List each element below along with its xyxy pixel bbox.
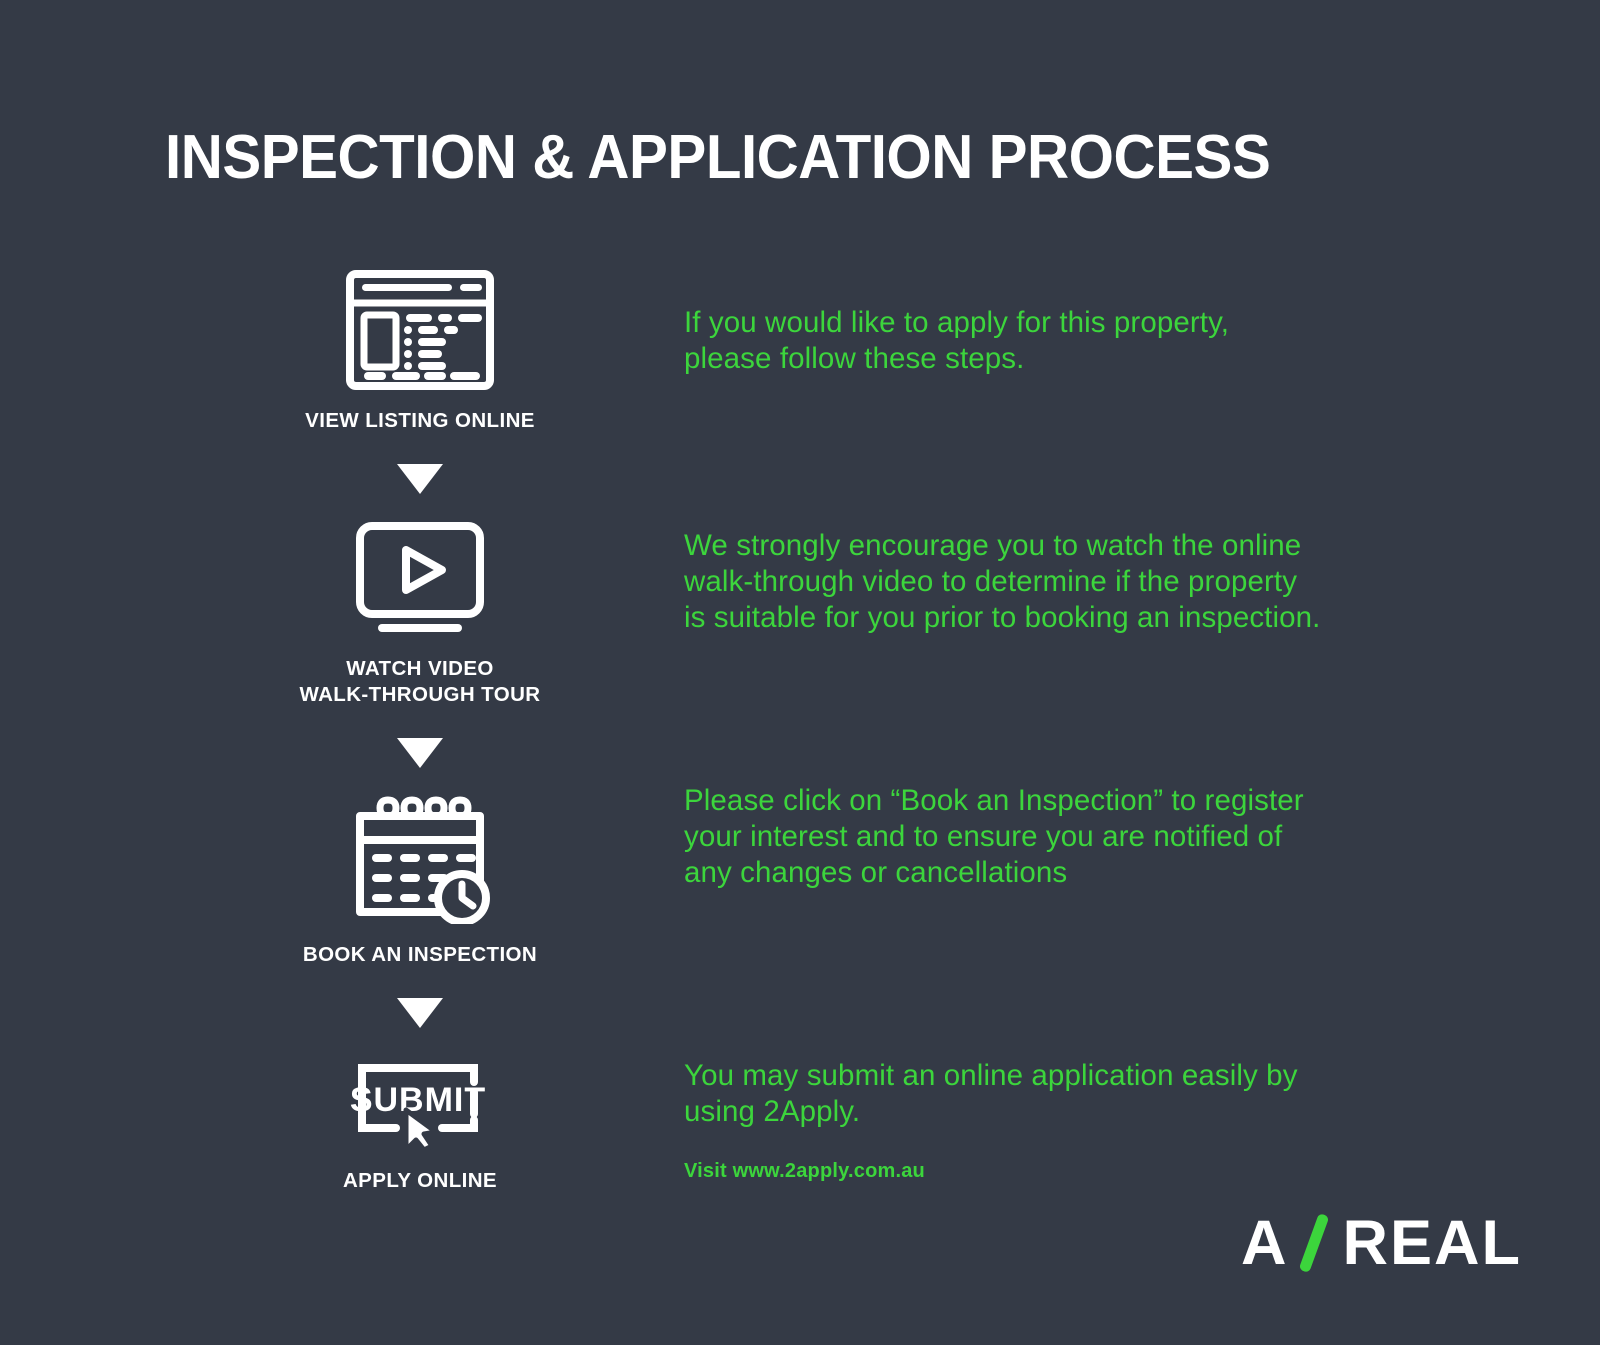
chevron-down-icon bbox=[397, 464, 443, 494]
step-description-1: If you would like to apply for this prop… bbox=[684, 305, 1229, 377]
step-watch-video: WATCH VIDEO WALK-THROUGH TOUR bbox=[270, 520, 570, 708]
step-description-3: Please click on “Book an Inspection” to … bbox=[684, 783, 1304, 891]
page-title: INSPECTION & APPLICATION PROCESS bbox=[165, 123, 1270, 193]
step-view-listing-online: VIEW LISTING ONLINE bbox=[270, 270, 570, 434]
submit-button-cursor-icon: SUBMIT bbox=[344, 1054, 496, 1150]
step-description-2: We strongly encourage you to watch the o… bbox=[684, 528, 1320, 636]
video-play-monitor-icon bbox=[346, 520, 494, 638]
flow-arrow-1 bbox=[270, 464, 570, 494]
logo-word-real: REAL bbox=[1343, 1213, 1523, 1273]
flow-arrow-3 bbox=[270, 998, 570, 1028]
steps-flow: VIEW LISTING ONLINE WATCH VIDEO WALK-THR… bbox=[270, 270, 570, 1194]
svg-text:SUBMIT: SUBMIT bbox=[350, 1081, 486, 1119]
step-label: WATCH VIDEO WALK-THROUGH TOUR bbox=[299, 656, 540, 708]
chevron-down-icon bbox=[397, 738, 443, 768]
logo-slash-icon bbox=[1297, 1213, 1331, 1273]
flow-arrow-2 bbox=[270, 738, 570, 768]
calendar-clock-icon bbox=[346, 794, 494, 924]
chevron-down-icon bbox=[397, 998, 443, 1028]
listing-window-icon bbox=[346, 270, 494, 390]
step-description-4: You may submit an online application eas… bbox=[684, 1058, 1298, 1130]
step-book-inspection: BOOK AN INSPECTION bbox=[270, 794, 570, 968]
step-label: VIEW LISTING ONLINE bbox=[305, 408, 535, 434]
infographic-poster: INSPECTION & APPLICATION PROCESS bbox=[0, 0, 1600, 1345]
step-label: BOOK AN INSPECTION bbox=[303, 942, 537, 968]
visit-url-link[interactable]: Visit www.2apply.com.au bbox=[684, 1160, 925, 1183]
step-label: APPLY ONLINE bbox=[343, 1168, 497, 1194]
areal-logo: A REAL bbox=[1241, 1213, 1522, 1273]
step-apply-online: SUBMIT APPLY ONLINE bbox=[270, 1054, 570, 1194]
logo-letter-a: A bbox=[1241, 1213, 1289, 1273]
